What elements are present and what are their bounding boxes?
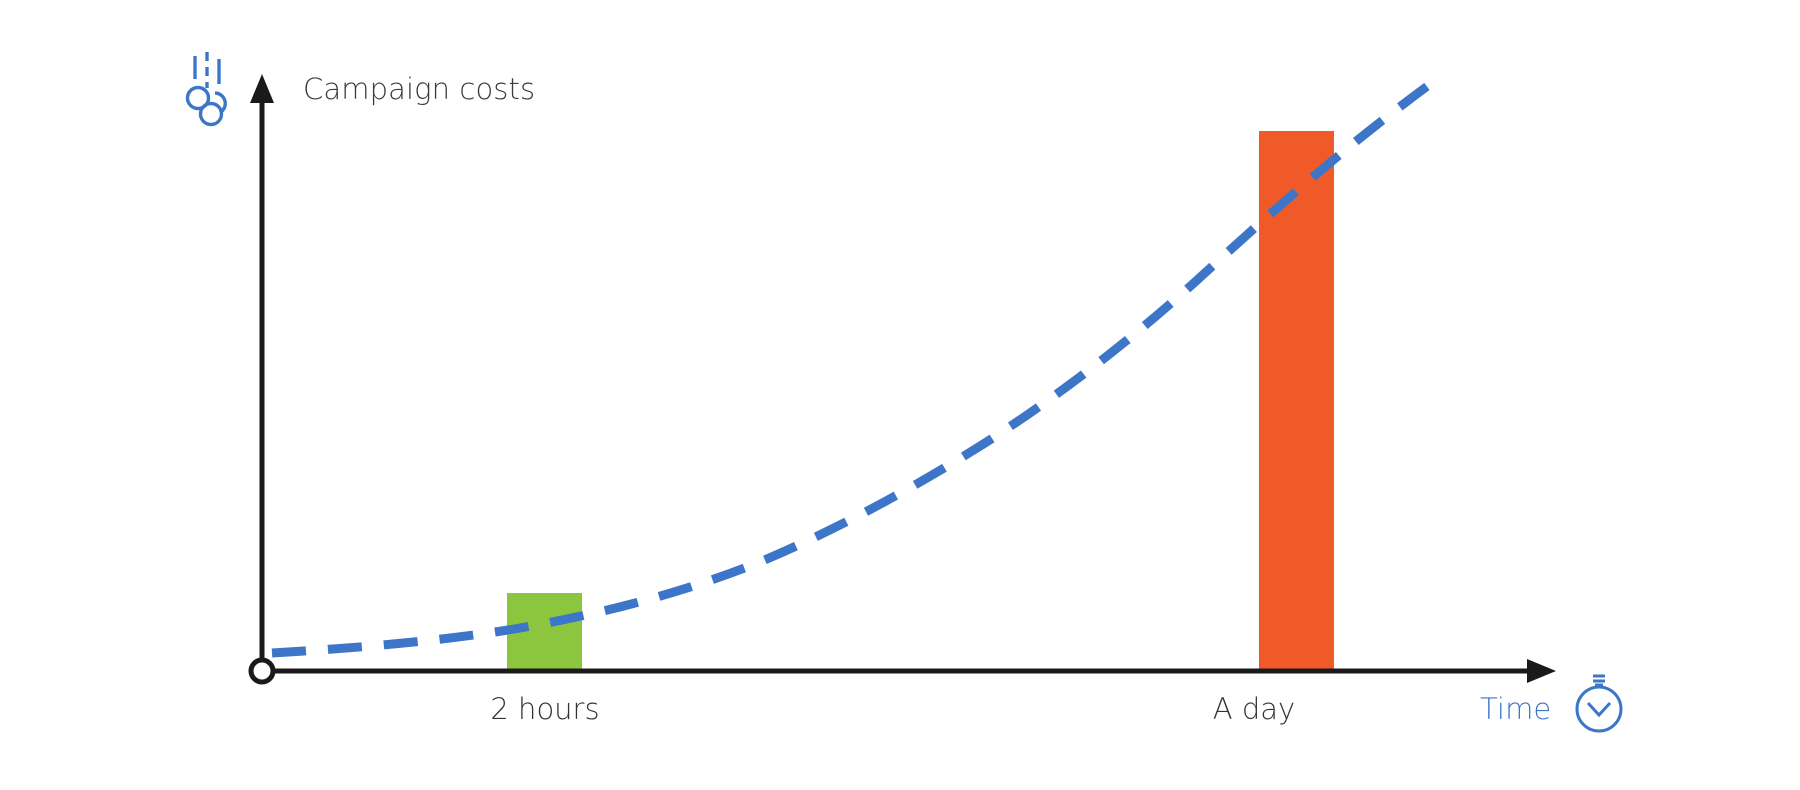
chart-plot-area bbox=[0, 0, 1800, 790]
x-tick-label-a-day: A day bbox=[1134, 692, 1374, 726]
chart-canvas: Campaign costs Time 2 hours A day bbox=[0, 0, 1800, 790]
x-tick-label-2-hours: 2 hours bbox=[425, 692, 665, 726]
x-axis-title: Time bbox=[1480, 692, 1551, 726]
y-axis-title: Campaign costs bbox=[303, 72, 535, 106]
stopwatch-icon bbox=[1570, 672, 1630, 736]
y-axis-arrow-head bbox=[250, 74, 274, 103]
origin-marker bbox=[251, 660, 273, 682]
x-axis-arrow-head bbox=[1527, 659, 1556, 683]
falling-coins-icon bbox=[186, 50, 240, 126]
